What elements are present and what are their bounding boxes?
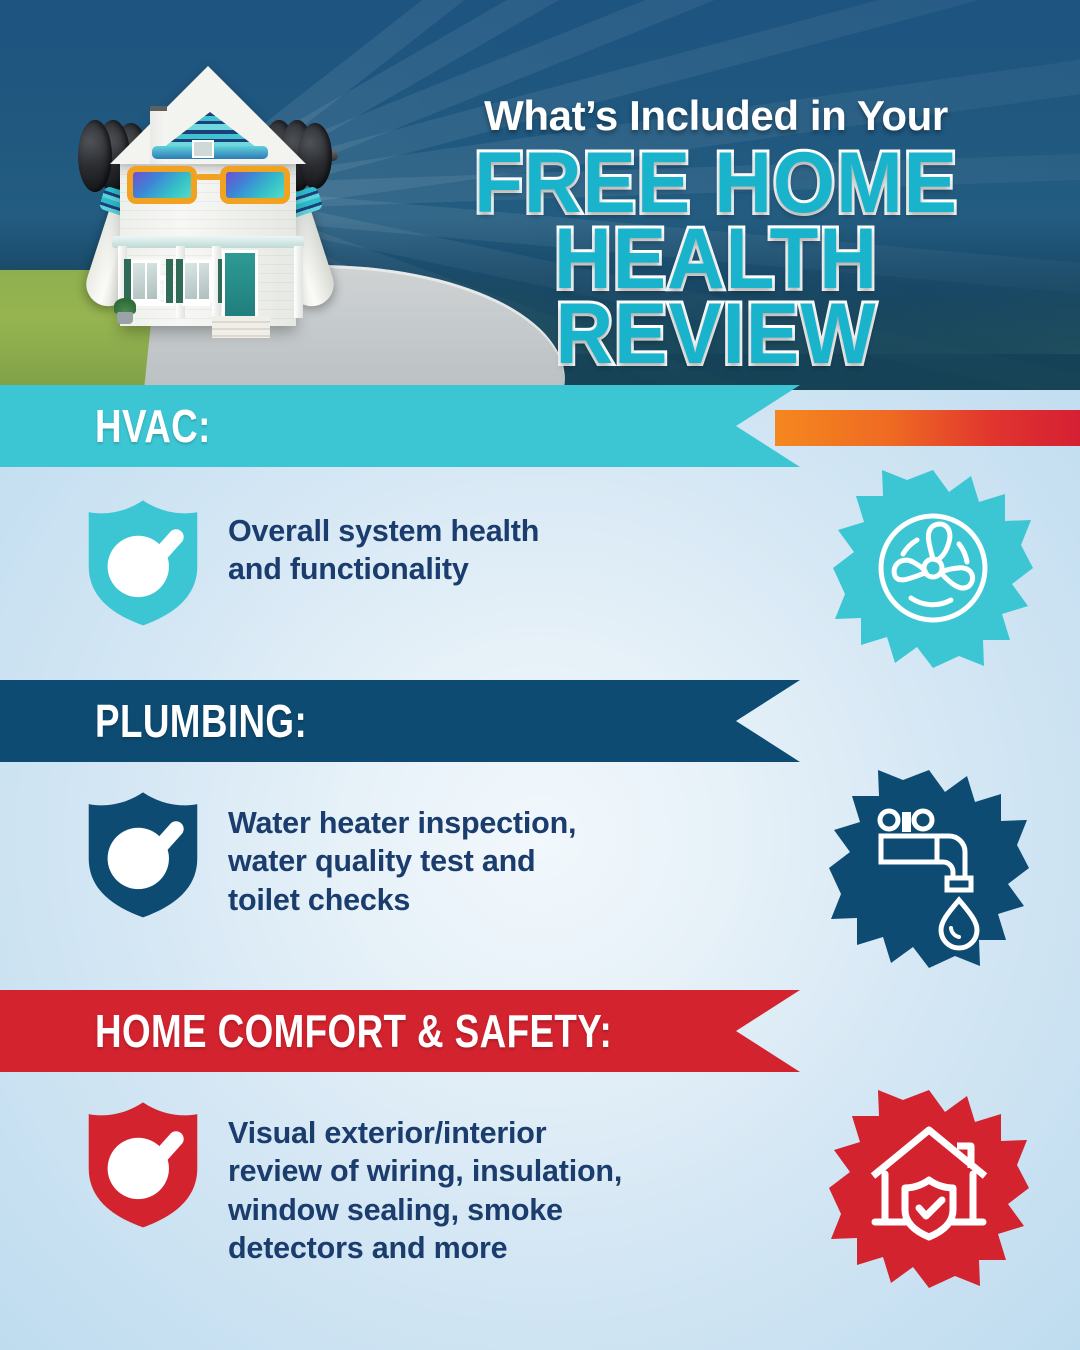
- section-body-hvac: Overall system health and functionality: [228, 498, 539, 589]
- shield-check-glyph: [84, 1100, 202, 1230]
- section-banner-hvac: HVAC:: [0, 385, 800, 467]
- shield-check-icon-safety: [84, 1100, 202, 1228]
- section-body-plumbing: Water heater inspection, water quality t…: [228, 790, 576, 919]
- infographic-page: What’s Included in Your FREE HOME HEALTH…: [0, 0, 1080, 1350]
- faucet-drip-icon: [824, 768, 1034, 968]
- potted-plant: [114, 298, 136, 324]
- front-steps: [212, 316, 270, 338]
- section-banner-label-home-comfort-safety: HOME COMFORT & SAFETY:: [95, 1004, 612, 1058]
- front-door: [222, 250, 258, 316]
- window-left: [130, 260, 160, 302]
- house-shield-check-icon: [824, 1088, 1034, 1288]
- window-right: [182, 260, 212, 302]
- title-block: What’s Included in Your FREE HOME HEALTH…: [386, 92, 1046, 373]
- section-banner-label-plumbing: PLUMBING:: [95, 694, 307, 748]
- burst-badge-plumbing: [824, 768, 1034, 968]
- sunglasses-icon: [127, 164, 290, 206]
- burst-badge-home-comfort-safety: [824, 1088, 1034, 1288]
- section-banner-plumbing: PLUMBING:: [0, 680, 800, 762]
- porch-awning: [112, 236, 304, 248]
- shield-check-glyph: [84, 498, 202, 628]
- fan-icon: [828, 468, 1038, 668]
- section-banner-label-hvac: HVAC:: [95, 399, 211, 453]
- hero-kicker: What’s Included in Your: [386, 92, 1046, 140]
- hero-headline-line1: FREE HOME HEALTH: [409, 146, 1023, 297]
- shield-check-icon-plumbing: [84, 790, 202, 918]
- burst-badge-hvac: [828, 468, 1038, 668]
- section-body-home-comfort-safety: Visual exterior/interior review of wirin…: [228, 1100, 622, 1268]
- shield-check-glyph: [84, 790, 202, 920]
- hero-header: What’s Included in Your FREE HOME HEALTH…: [0, 0, 1080, 390]
- section-banner-home-comfort-safety: HOME COMFORT & SAFETY:: [0, 990, 800, 1072]
- shield-check-icon-hvac: [84, 498, 202, 626]
- hero-headline-line2: REVIEW: [409, 297, 1023, 373]
- accent-gradient-bar: [775, 410, 1080, 446]
- attic-window: [192, 140, 214, 158]
- hero-headline: FREE HOME HEALTH REVIEW: [409, 146, 1023, 373]
- house-mascot: [72, 48, 344, 348]
